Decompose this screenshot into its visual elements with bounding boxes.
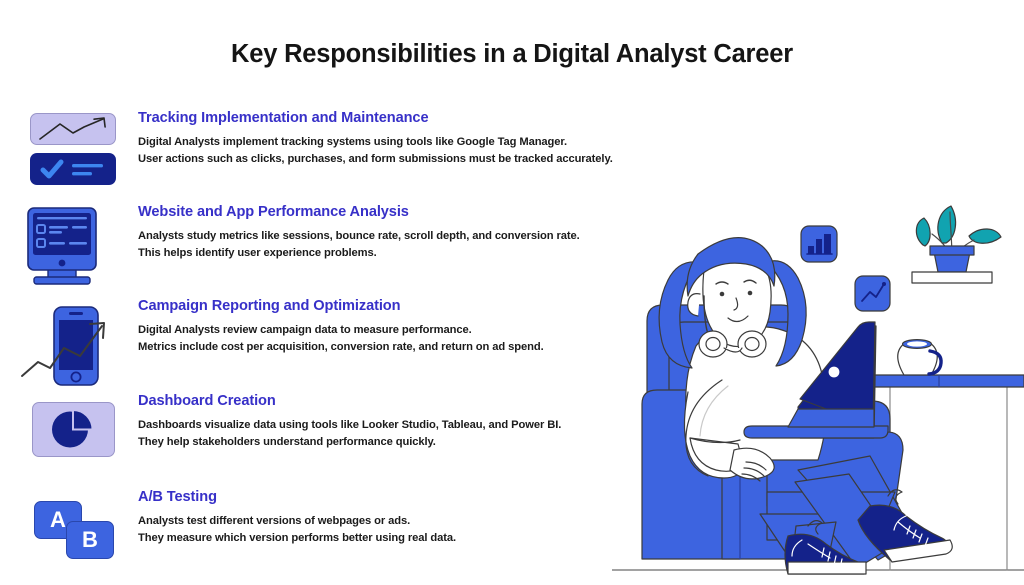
item-body-line-2: This helps identify user experience prob… [138,245,638,262]
item-body-line-2: They measure which version performs bett… [138,530,638,547]
eye-left [720,292,725,297]
smartphone-growth-arrow-icon [22,298,134,390]
variant-a-label: A [50,507,66,533]
variant-b-label: B [82,527,98,553]
desktop-monitor-icon [22,204,134,296]
phone-with-arrow-graphic [16,298,136,390]
item-body-line-1: Analysts study metrics like sessions, bo… [138,228,638,245]
item-body-line-2: They help stakeholders understand perfor… [138,434,638,451]
line-chart-and-checklist-icon [22,110,134,202]
item-body-line-2: User actions such as clicks, purchases, … [138,151,638,168]
item-heading: A/B Testing [138,489,638,505]
pie-chart-graphic [32,402,115,457]
responsibility-text-1: Tracking Implementation and Maintenance … [138,110,638,167]
responsibility-item-2: Website and App Performance Analysis Ana… [0,204,640,296]
responsibility-text-3: Campaign Reporting and Optimization Digi… [138,298,638,355]
page-title: Key Responsibilities in a Digital Analys… [0,40,1024,69]
infographic-page: Key Responsibilities in a Digital Analys… [0,0,1024,585]
potted-plant-on-shelf [912,206,1001,283]
check-and-lines-icon [30,153,116,185]
upward-zigzag-arrow-icon [30,113,116,145]
item-heading: Tracking Implementation and Maintenance [138,110,638,126]
bar-chart-badge [801,226,837,262]
responsibility-item-3: Campaign Reporting and Optimization Digi… [0,298,640,390]
responsibility-text-2: Website and App Performance Analysis Ana… [138,204,638,261]
responsibility-text-5: A/B Testing Analysts test different vers… [138,489,638,546]
illustration-svg [612,196,1024,585]
responsibility-item-4: Dashboard Creation Dashboards visualize … [0,393,640,485]
variant-b-card: B [66,521,114,559]
line-chart-badge [855,276,890,311]
coffee-mug [898,340,941,375]
item-body-line-1: Digital Analysts implement tracking syst… [138,134,638,151]
item-body-line-1: Analysts test different versions of webp… [138,513,638,530]
responsibility-item-5: A B A/B Testing Analysts test different … [0,489,640,581]
illustration-woman-working-on-laptop [612,196,1024,585]
eye-right [748,291,753,296]
item-body-line-1: Digital Analysts review campaign data to… [138,322,638,339]
item-heading: Dashboard Creation [138,393,638,409]
responsibility-item-1: Tracking Implementation and Maintenance … [0,110,640,202]
item-body-line-2: Metrics include cost per acquisition, co… [138,339,638,356]
item-heading: Website and App Performance Analysis [138,204,638,220]
pie-chart-icon [22,393,134,485]
responsibility-text-4: Dashboard Creation Dashboards visualize … [138,393,638,450]
ab-test-cards-icon: A B [22,489,134,581]
item-body-line-1: Dashboards visualize data using tools li… [138,417,638,434]
item-heading: Campaign Reporting and Optimization [138,298,638,314]
monitor-graphic [26,206,130,288]
